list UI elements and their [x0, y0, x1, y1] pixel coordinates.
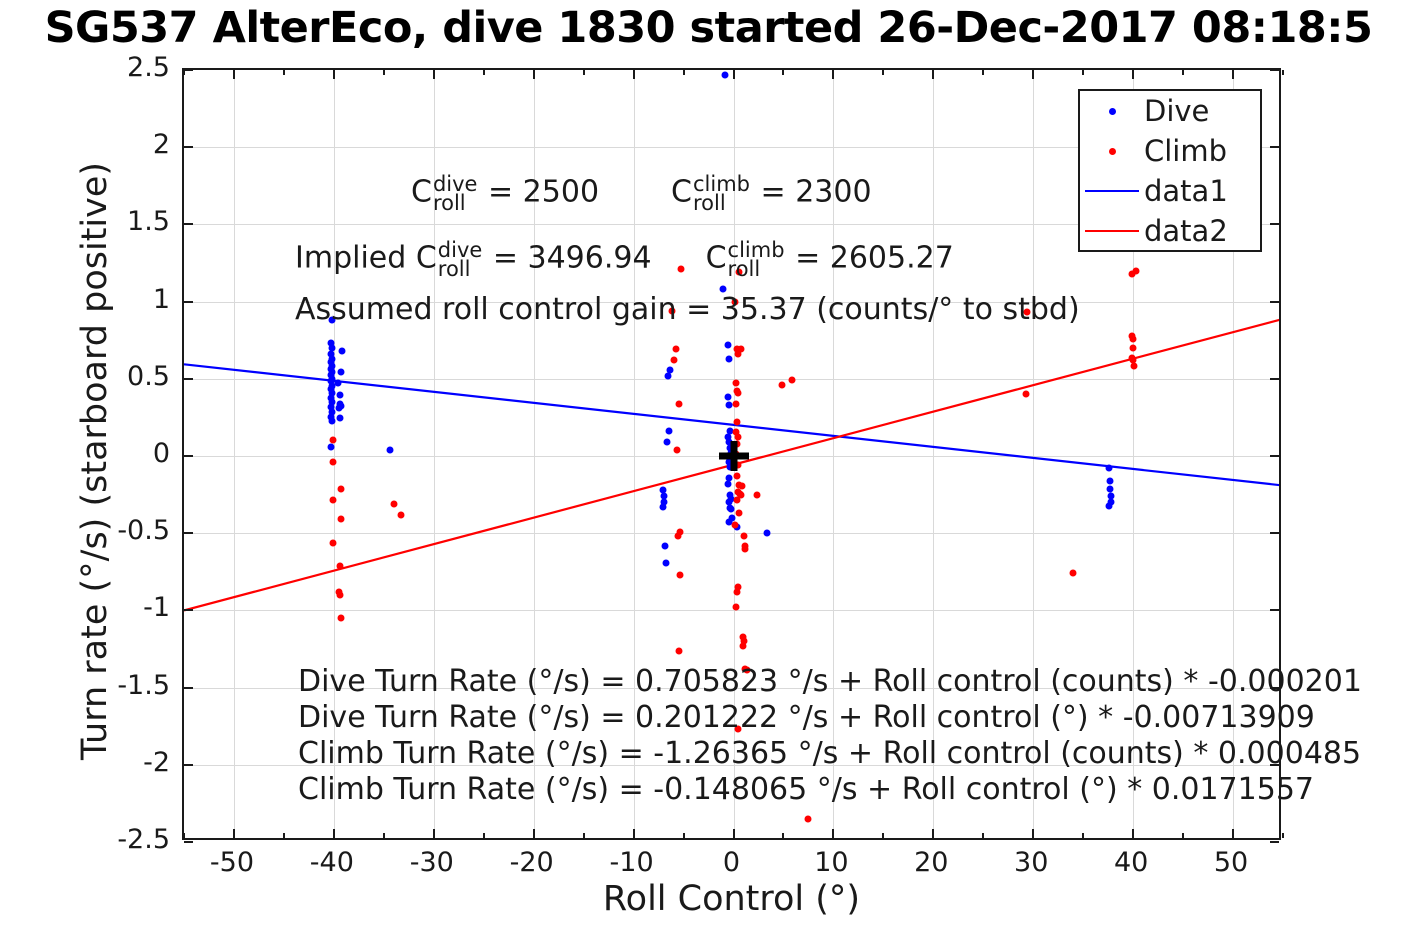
- axis-tick-x-minor: [1282, 70, 1284, 75]
- axis-tick-x-minor: [683, 833, 685, 838]
- axis-tick-x: [533, 829, 535, 838]
- legend-label: data1: [1144, 174, 1228, 208]
- data-point-dive: [662, 559, 669, 566]
- axis-tick-y: [184, 532, 193, 534]
- axis-tick-x: [832, 70, 834, 79]
- implied-climb-symbol: C: [706, 241, 727, 276]
- legend-marker-swatch: [1080, 148, 1144, 155]
- annotation-c-roll-setpoints: Cdiveroll = 2500Cclimbroll = 2300: [411, 174, 872, 212]
- data-point-climb: [672, 346, 679, 353]
- axis-tick-x-minor: [1282, 833, 1284, 838]
- data-point-climb: [733, 380, 740, 387]
- axis-tick-x-minor: [1182, 833, 1184, 838]
- axis-tick-x-minor: [583, 833, 585, 838]
- data-point-dive: [664, 372, 671, 379]
- axis-tick-y: [184, 687, 193, 689]
- implied-prefix: Implied C: [295, 241, 437, 276]
- axis-tick-y: [1270, 532, 1279, 534]
- axis-tick-y: [184, 301, 193, 303]
- data-point-climb: [734, 497, 741, 504]
- data-point-climb: [735, 389, 742, 396]
- c-dive-symbol: C: [411, 175, 432, 210]
- legend-label: data2: [1144, 214, 1228, 248]
- data-point-climb: [337, 615, 344, 622]
- equation-line-1: Dive Turn Rate (°/s) = 0.705823 °/s + Ro…: [298, 664, 1362, 700]
- axis-tick-y: [184, 764, 193, 766]
- x-tick-label: 30: [1014, 848, 1048, 878]
- data-point-dive: [328, 418, 335, 425]
- axis-tick-x: [633, 70, 635, 79]
- data-point-dive: [1107, 486, 1114, 493]
- axis-tick-y: [1270, 378, 1279, 380]
- data-point-climb: [735, 351, 742, 358]
- x-tick-label: 10: [814, 848, 848, 878]
- data-point-climb: [1130, 344, 1137, 351]
- axis-tick-y: [184, 841, 193, 843]
- implied-dive-value: = 3496.94: [483, 241, 651, 276]
- axis-tick-y: [1270, 223, 1279, 225]
- dot-icon: [1109, 148, 1116, 155]
- annotation-implied-c-roll: Implied Cdiveroll = 3496.94Cclimbroll = …: [295, 240, 954, 278]
- legend-line-swatch: [1080, 230, 1144, 232]
- axis-tick-x: [1132, 829, 1134, 838]
- axis-tick-y: [1270, 455, 1279, 457]
- data-point-dive: [727, 506, 734, 513]
- dot-icon: [1109, 108, 1116, 115]
- data-point-dive: [334, 379, 341, 386]
- x-tick-label: 0: [723, 848, 740, 878]
- axis-tick-x: [233, 70, 235, 79]
- y-axis-label: Turn rate (°/s) (starboard positive): [74, 61, 116, 861]
- data-point-climb: [789, 377, 796, 384]
- data-point-dive: [337, 368, 344, 375]
- data-point-climb: [337, 516, 344, 523]
- data-point-climb: [779, 381, 786, 388]
- data-point-dive: [724, 393, 731, 400]
- axis-tick-x: [1232, 70, 1234, 79]
- axis-tick-y: [184, 378, 193, 380]
- axis-tick-y: [184, 146, 193, 148]
- figure-canvas: SG537 AlterEco, dive 1830 started 26-Dec…: [0, 0, 1417, 945]
- equation-line-2: Dive Turn Rate (°/s) = 0.201222 °/s + Ro…: [298, 700, 1362, 736]
- legend-marker-swatch: [1080, 108, 1144, 115]
- axis-tick-x: [433, 829, 435, 838]
- data-point-dive: [1106, 465, 1113, 472]
- data-point-climb: [734, 473, 741, 480]
- axis-tick-x-minor: [383, 70, 385, 75]
- data-point-climb: [673, 446, 680, 453]
- axis-tick-x-minor: [483, 70, 485, 75]
- axis-tick-x-minor: [782, 833, 784, 838]
- legend-label: Climb: [1144, 134, 1227, 168]
- x-tick-label: 20: [914, 848, 948, 878]
- c-dive-value: = 2500: [478, 175, 599, 210]
- axis-tick-x-minor: [283, 70, 285, 75]
- data-point-dive: [338, 348, 345, 355]
- data-point-climb: [754, 492, 761, 499]
- data-point-dive: [724, 480, 731, 487]
- axis-tick-x-minor: [882, 70, 884, 75]
- axis-tick-x: [832, 829, 834, 838]
- x-tick-label: -40: [310, 848, 354, 878]
- data-point-dive: [665, 428, 672, 435]
- axis-tick-y: [184, 223, 193, 225]
- data-point-dive: [659, 503, 666, 510]
- data-point-climb: [336, 591, 343, 598]
- axis-tick-x: [1132, 70, 1134, 79]
- legend-item-dive[interactable]: Dive: [1080, 91, 1260, 131]
- data-point-climb: [1023, 391, 1030, 398]
- axis-tick-x: [333, 70, 335, 79]
- data-point-dive: [327, 443, 334, 450]
- axis-tick-x-minor: [982, 833, 984, 838]
- data-point-dive: [336, 392, 343, 399]
- axis-tick-y: [184, 455, 193, 457]
- equation-line-4: Climb Turn Rate (°/s) = -0.148065 °/s + …: [298, 772, 1362, 808]
- data-point-climb: [670, 357, 677, 364]
- data-point-dive: [663, 439, 670, 446]
- data-point-climb: [329, 436, 336, 443]
- axis-tick-x-minor: [583, 70, 585, 75]
- data-point-climb: [1070, 570, 1077, 577]
- data-point-climb: [741, 533, 748, 540]
- data-point-climb: [805, 815, 812, 822]
- data-point-climb: [337, 486, 344, 493]
- data-point-dive: [1107, 478, 1114, 485]
- line-icon: [1085, 190, 1139, 192]
- axis-tick-x: [1232, 829, 1234, 838]
- c-dive-script: diveroll: [433, 175, 478, 213]
- axis-tick-x-minor: [483, 833, 485, 838]
- implied-dive-script: diveroll: [438, 241, 483, 279]
- legend-item-climb[interactable]: Climb: [1080, 131, 1260, 171]
- data-point-climb: [329, 540, 336, 547]
- data-point-dive: [764, 530, 771, 537]
- data-point-dive: [721, 71, 728, 78]
- axis-tick-x-minor: [782, 70, 784, 75]
- c-climb-value: = 2300: [751, 175, 872, 210]
- data-point-dive: [1106, 503, 1113, 510]
- legend-line-swatch: [1080, 190, 1144, 192]
- annotation-roll-control-gain: Assumed roll control gain = 35.37 (count…: [295, 292, 1080, 328]
- data-point-dive: [335, 405, 342, 412]
- data-point-climb: [1129, 336, 1136, 343]
- axis-tick-x: [733, 829, 735, 838]
- legend-item-data2[interactable]: data2: [1080, 211, 1260, 251]
- data-point-climb: [674, 533, 681, 540]
- axis-tick-y: [184, 69, 193, 71]
- data-point-dive: [724, 341, 731, 348]
- legend[interactable]: DiveClimbdata1data2: [1078, 89, 1262, 252]
- x-tick-label: 40: [1114, 848, 1148, 878]
- line-icon: [1085, 230, 1139, 232]
- axis-tick-x: [932, 70, 934, 79]
- data-point-dive: [386, 446, 393, 453]
- axis-tick-x: [1032, 70, 1034, 79]
- axis-tick-x: [1032, 829, 1034, 838]
- data-point-dive: [725, 518, 732, 525]
- legend-item-data1[interactable]: data1: [1080, 171, 1260, 211]
- data-point-climb: [1130, 356, 1137, 363]
- axis-tick-x: [633, 829, 635, 838]
- c-climb-symbol: C: [671, 175, 692, 210]
- implied-climb-value: = 2605.27: [786, 241, 954, 276]
- data-point-climb: [736, 510, 743, 517]
- axis-tick-x-minor: [982, 70, 984, 75]
- c-climb-script: climbroll: [693, 175, 750, 213]
- data-point-climb: [390, 500, 397, 507]
- legend-label: Dive: [1144, 94, 1209, 128]
- data-point-climb: [329, 459, 336, 466]
- data-point-climb: [741, 545, 748, 552]
- axis-tick-y: [1270, 609, 1279, 611]
- annotation-equations: Dive Turn Rate (°/s) = 0.705823 °/s + Ro…: [298, 664, 1362, 808]
- data-point-climb: [397, 511, 404, 518]
- axis-tick-x-minor: [1082, 833, 1084, 838]
- x-axis-label: Roll Control (°): [182, 878, 1281, 920]
- axis-tick-x: [233, 829, 235, 838]
- x-tick-label: -50: [210, 848, 254, 878]
- x-tick-label: -20: [510, 848, 554, 878]
- data-point-climb: [732, 522, 739, 529]
- data-point-climb: [675, 400, 682, 407]
- axis-tick-x-minor: [283, 833, 285, 838]
- x-tick-label: -30: [410, 848, 454, 878]
- data-point-climb: [739, 642, 746, 649]
- axis-tick-y: [1270, 301, 1279, 303]
- axis-tick-x-minor: [183, 833, 185, 838]
- axis-tick-x-minor: [1082, 70, 1084, 75]
- data-point-climb: [676, 571, 683, 578]
- data-point-climb: [336, 563, 343, 570]
- axis-tick-x-minor: [1182, 70, 1184, 75]
- x-tick-label: -10: [610, 848, 654, 878]
- axis-tick-y: [1270, 146, 1279, 148]
- data-point-climb: [733, 401, 740, 408]
- implied-climb-script: climbroll: [728, 241, 785, 279]
- chart-title: SG537 AlterEco, dive 1830 started 26-Dec…: [0, 2, 1417, 54]
- data-point-climb: [734, 588, 741, 595]
- data-point-climb: [735, 434, 742, 441]
- axis-tick-x: [433, 70, 435, 79]
- data-point-climb: [675, 647, 682, 654]
- data-point-climb: [734, 419, 741, 426]
- axis-tick-x: [733, 70, 735, 79]
- origin-cross-marker: [730, 441, 737, 471]
- data-point-climb: [733, 604, 740, 611]
- data-point-dive: [725, 402, 732, 409]
- equation-line-3: Climb Turn Rate (°/s) = -1.26365 °/s + R…: [298, 736, 1362, 772]
- x-tick-label: 50: [1214, 848, 1248, 878]
- data-point-climb: [329, 497, 336, 504]
- data-point-climb: [1133, 267, 1140, 274]
- axis-tick-x: [333, 829, 335, 838]
- axis-tick-x-minor: [683, 70, 685, 75]
- axis-tick-x-minor: [383, 833, 385, 838]
- axis-tick-x: [932, 829, 934, 838]
- axis-tick-y: [1270, 841, 1279, 843]
- data-point-dive: [661, 542, 668, 549]
- data-point-dive: [336, 415, 343, 422]
- axis-tick-x: [533, 70, 535, 79]
- axis-tick-y: [1270, 69, 1279, 71]
- axis-tick-y: [184, 609, 193, 611]
- data-point-dive: [725, 355, 732, 362]
- axis-tick-x-minor: [882, 833, 884, 838]
- data-point-climb: [1131, 363, 1138, 370]
